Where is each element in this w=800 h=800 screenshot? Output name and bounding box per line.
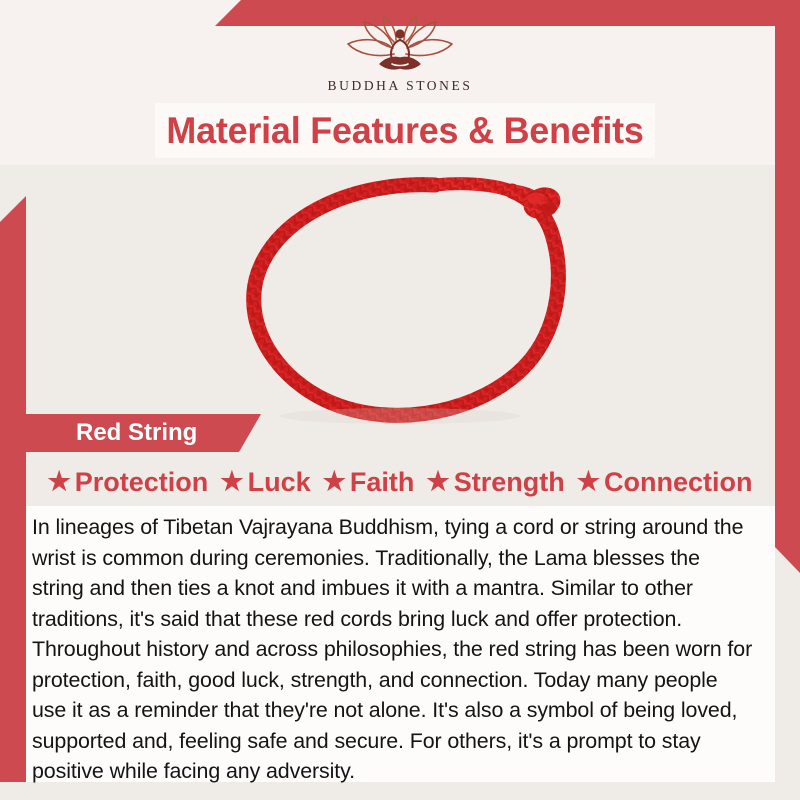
benefit-item-connection: ★ Connection: [571, 467, 759, 498]
product-label-banner: Red String: [26, 414, 261, 452]
brand-name: BUDDHA STONES: [328, 78, 473, 94]
benefit-label: Luck: [248, 467, 311, 498]
benefit-item-faith: ★ Faith: [317, 467, 421, 498]
brand-logo: BUDDHA STONES: [0, 14, 800, 104]
star-icon: ★: [220, 468, 243, 494]
benefits-row: ★ Protection ★ Luck ★ Faith ★ Strength ★…: [26, 462, 774, 502]
benefit-label: Connection: [604, 467, 753, 498]
benefit-label: Protection: [75, 467, 209, 498]
decorative-bar-right: [775, 26, 800, 573]
decorative-bar-left: [0, 196, 26, 782]
lotus-meditation-icon: [336, 14, 464, 76]
benefit-item-protection: ★ Protection: [41, 467, 214, 498]
product-label: Red String: [26, 419, 197, 447]
infographic-canvas: BUDDHA STONES Material Features & Benefi…: [0, 0, 800, 800]
product-image-area: [150, 168, 650, 433]
red-string-bracelet-image: [150, 168, 650, 433]
star-icon: ★: [47, 468, 70, 494]
star-icon: ★: [577, 468, 600, 494]
benefit-label: Faith: [350, 467, 415, 498]
benefit-item-strength: ★ Strength: [420, 467, 570, 498]
benefit-item-luck: ★ Luck: [214, 467, 316, 498]
description-text: In lineages of Tibetan Vajrayana Buddhis…: [32, 512, 757, 787]
star-icon: ★: [323, 468, 346, 494]
page-title-band: Material Features & Benefits: [155, 103, 655, 158]
benefit-label: Strength: [454, 467, 565, 498]
page-title: Material Features & Benefits: [166, 110, 643, 152]
star-icon: ★: [426, 468, 449, 494]
description-panel: In lineages of Tibetan Vajrayana Buddhis…: [26, 506, 775, 782]
